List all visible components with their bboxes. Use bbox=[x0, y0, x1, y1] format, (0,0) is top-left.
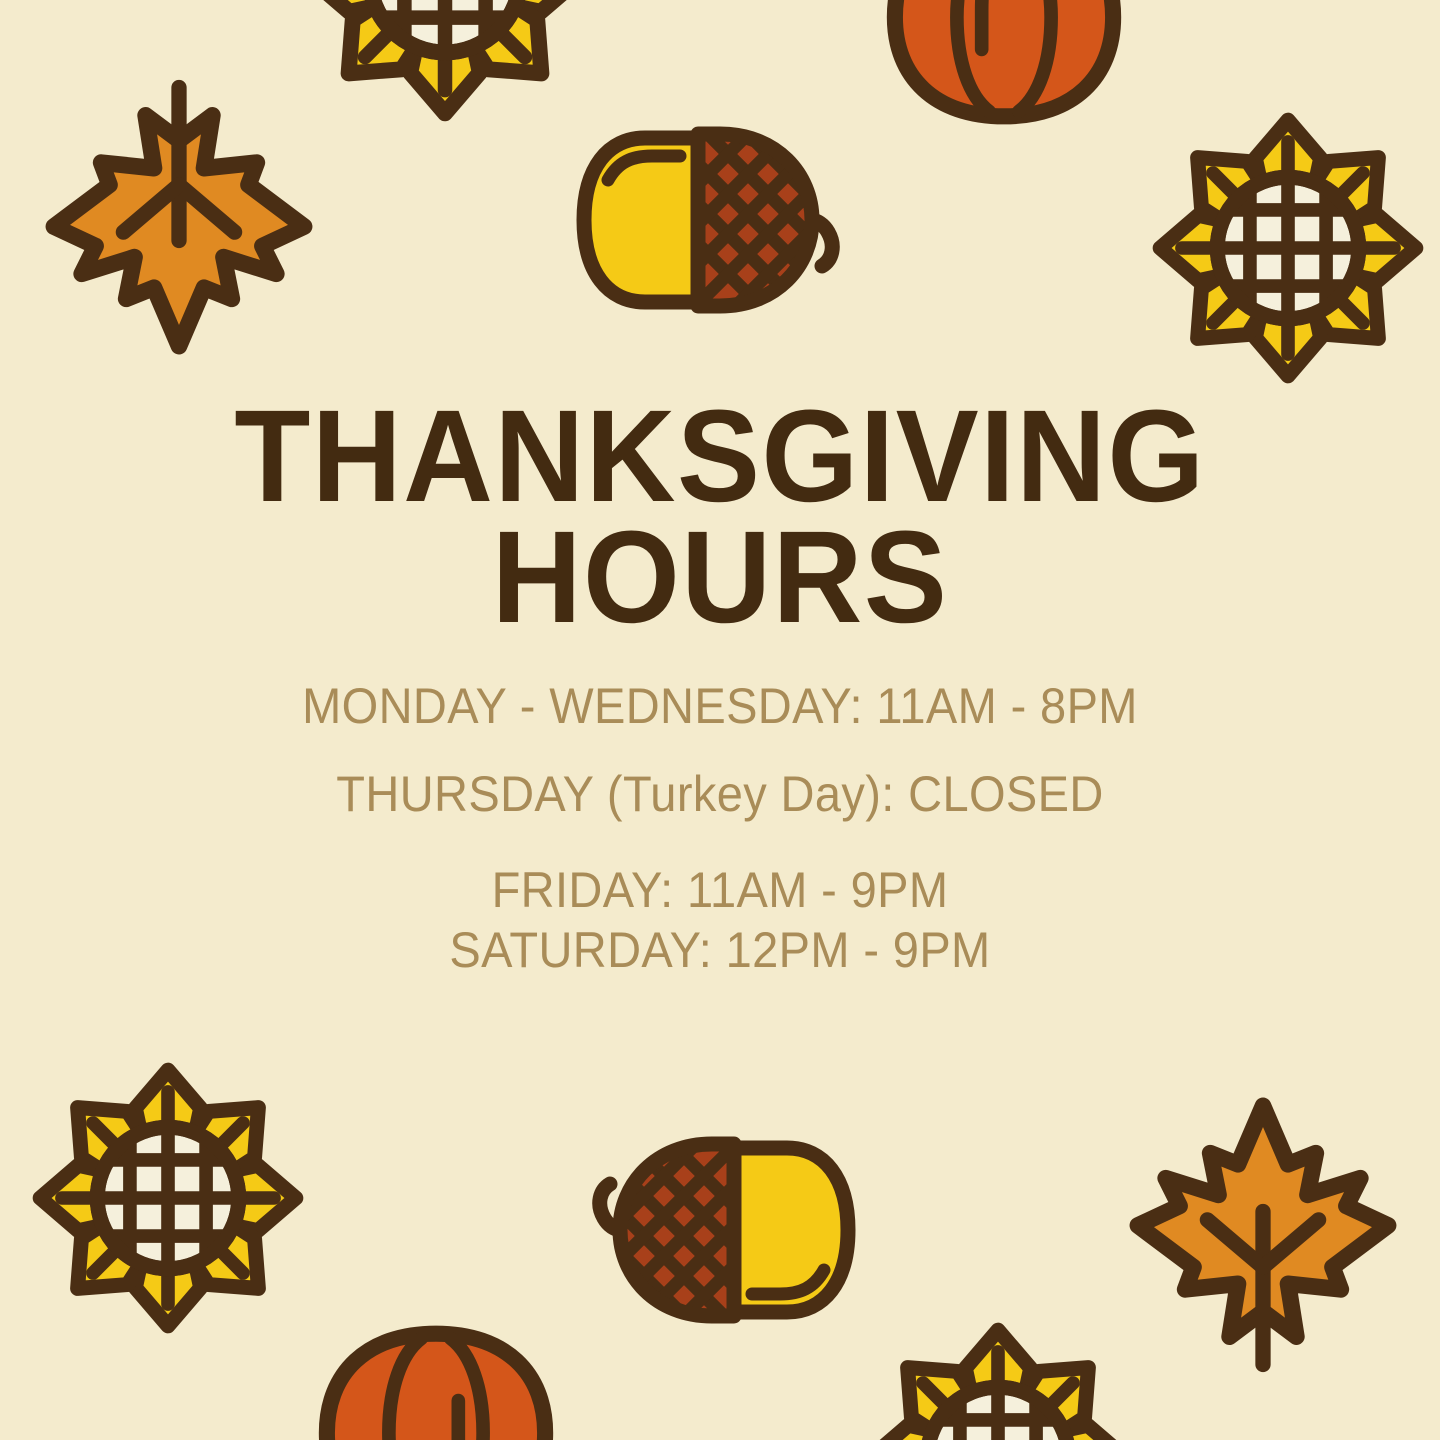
maple-leaf-icon bbox=[40, 82, 318, 360]
hours-row-thursday: THURSDAY (Turkey Day): CLOSED bbox=[43, 769, 1397, 819]
hours-row-monday-wednesday: MONDAY - WEDNESDAY: 11AM - 8PM bbox=[43, 681, 1397, 731]
sunflower-icon bbox=[32, 1062, 304, 1334]
sunflower-icon bbox=[300, 0, 590, 122]
acorn-icon bbox=[562, 1132, 862, 1328]
hours-list: MONDAY - WEDNESDAY: 11AM - 8PM THURSDAY … bbox=[0, 681, 1440, 975]
pumpkin-icon bbox=[880, 0, 1128, 150]
sunflower-icon bbox=[1152, 112, 1424, 384]
title-line-2: HOURS bbox=[74, 517, 1366, 638]
page-title: THANKSGIVING HOURS bbox=[36, 396, 1404, 637]
pumpkin-icon bbox=[312, 1300, 560, 1440]
maple-leaf-icon bbox=[1124, 1092, 1402, 1370]
hours-row-saturday: SATURDAY: 12PM - 9PM bbox=[43, 925, 1397, 975]
sunflower-icon bbox=[862, 1322, 1134, 1440]
hours-row-friday: FRIDAY: 11AM - 9PM bbox=[43, 865, 1397, 915]
poster-content: THANKSGIVING HOURS MONDAY - WEDNESDAY: 1… bbox=[0, 396, 1440, 975]
thanksgiving-hours-poster: THANKSGIVING HOURS MONDAY - WEDNESDAY: 1… bbox=[0, 0, 1440, 1440]
acorn-icon bbox=[570, 122, 870, 318]
